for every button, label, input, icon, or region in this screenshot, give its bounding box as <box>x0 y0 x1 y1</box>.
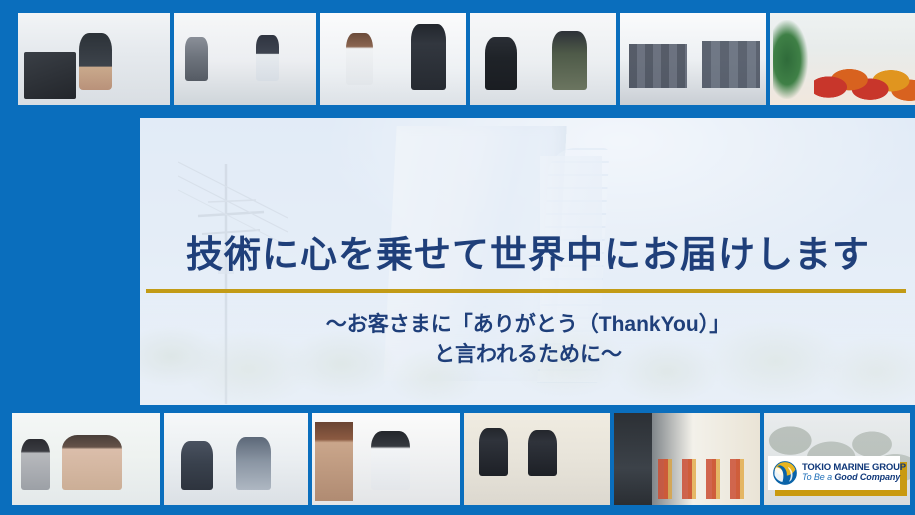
subtitle-line-2: と言われるために～ <box>148 340 908 370</box>
photo-top-5 <box>620 13 766 105</box>
slide-root: 技術に心を乗せて世界中にお届けします ～お客さまに「ありがとう（ThankYou… <box>0 0 915 515</box>
subtitle-line-1: ～お客さまに「ありがとう（ThankYou）」 <box>148 310 908 340</box>
page-title: 技術に心を乗せて世界中にお届けします <box>148 236 908 273</box>
top-photo-strip <box>0 0 915 118</box>
photo-top-1 <box>18 13 170 105</box>
title-underline-rule <box>146 289 906 293</box>
logo-tagline-bold: Good Company <box>834 472 900 482</box>
page-subtitle: ～お客さまに「ありがとう（ThankYou）」 と言われるために～ <box>148 310 908 371</box>
photo-top-3 <box>320 13 466 105</box>
logo-tagline: To Be a Good Company <box>802 473 906 482</box>
photo-bottom-5 <box>614 413 760 505</box>
photo-bottom-3 <box>312 413 460 505</box>
logo-text-block: TOKIO MARINE GROUP To Be a Good Company <box>802 463 906 482</box>
photo-bottom-1 <box>12 413 160 505</box>
photo-top-6 <box>770 13 915 105</box>
logo-tagline-pre: To Be a <box>802 472 834 482</box>
left-accent-panel <box>0 118 140 405</box>
globe-icon <box>772 460 798 486</box>
top-photo-row <box>18 13 915 105</box>
photo-bottom-4 <box>464 413 610 505</box>
photo-top-4 <box>470 13 616 105</box>
hero-text-block: 技術に心を乗せて世界中にお届けします ～お客さまに「ありがとう（ThankYou… <box>140 118 915 405</box>
photo-top-2 <box>174 13 316 105</box>
photo-bottom-2 <box>164 413 308 505</box>
tokio-marine-logo: TOKIO MARINE GROUP To Be a Good Company <box>768 456 900 490</box>
